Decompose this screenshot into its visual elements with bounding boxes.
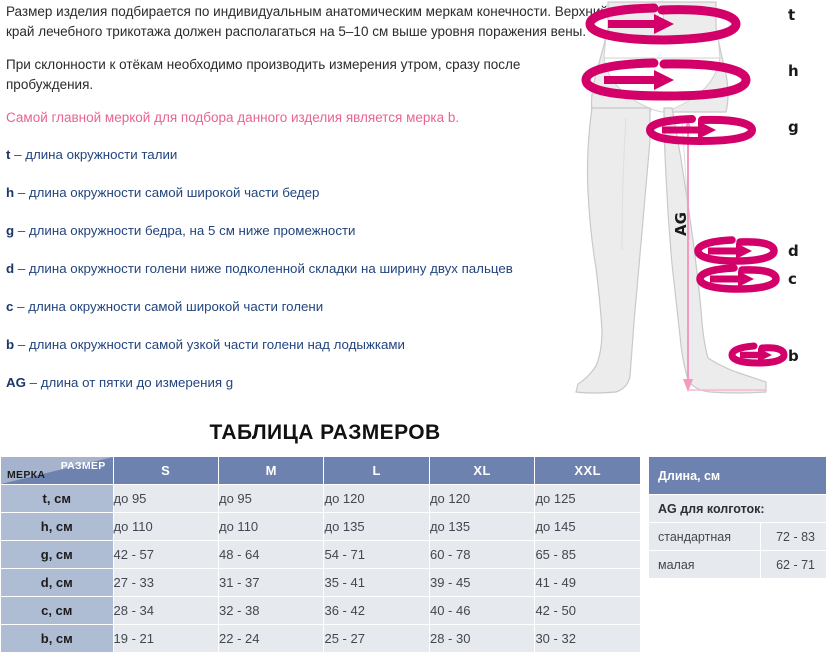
column-header-xxl: XXL [535, 457, 641, 485]
length-name-small: малая [649, 551, 761, 579]
table-row: b, см 19 - 21 22 - 24 25 - 27 28 - 30 30… [1, 625, 641, 653]
legend-key-b: b [6, 337, 14, 352]
row-label-d: d, см [1, 569, 114, 597]
length-value-standard: 72 - 83 [761, 523, 826, 551]
table-row: c, см 28 - 34 32 - 38 36 - 42 40 - 46 42… [1, 597, 641, 625]
diagram-label-b: b [788, 347, 799, 365]
corner-measure-label: МЕРКА [7, 469, 45, 481]
cell-b-xxl: 30 - 32 [535, 625, 641, 653]
legend-text-d: – длина окружности голени ниже подколенн… [18, 261, 513, 276]
table-header-row: РАЗМЕР МЕРКА S M L XL XXL [1, 457, 641, 485]
length-header-row: Длина, см [649, 457, 826, 495]
cell-b-l: 25 - 27 [324, 625, 429, 653]
diagram-label-d: d [788, 242, 799, 260]
cell-h-m: до 110 [219, 513, 324, 541]
length-value-small: 62 - 71 [761, 551, 826, 579]
cell-g-xl: 60 - 78 [429, 541, 534, 569]
intro-paragraph-1: Размер изделия подбирается по индивидуал… [6, 2, 610, 41]
corner-size-label: РАЗМЕР [61, 460, 106, 472]
cell-d-xxl: 41 - 49 [535, 569, 641, 597]
length-row: стандартная 72 - 83 [649, 523, 826, 551]
arrow-ring-c [700, 268, 776, 289]
cell-b-s: 19 - 21 [113, 625, 218, 653]
arrow-ring-g [650, 119, 752, 141]
cell-t-xl: до 120 [429, 485, 534, 513]
diagram-label-t: t [788, 6, 795, 24]
body-figure-svg [530, 0, 826, 410]
cell-d-xl: 39 - 45 [429, 569, 534, 597]
column-header-xl: XL [429, 457, 534, 485]
page-title: ТАБЛИЦА РАЗМЕРОВ [0, 421, 650, 445]
legend-item-b: b – длина окружности самой узкой части г… [6, 336, 610, 354]
length-table-header: Длина, см [649, 457, 826, 495]
row-label-t: t, см [1, 485, 114, 513]
table-row: t, см до 95 до 95 до 120 до 120 до 125 [1, 485, 641, 513]
cell-g-m: 48 - 64 [219, 541, 324, 569]
cell-c-s: 28 - 34 [113, 597, 218, 625]
row-label-h: h, см [1, 513, 114, 541]
cell-h-xl: до 135 [429, 513, 534, 541]
cell-h-xxl: до 145 [535, 513, 641, 541]
cell-b-xl: 28 - 30 [429, 625, 534, 653]
legend-text-t: – длина окружности талии [14, 147, 177, 162]
legend-text-c: – длина окружности самой широкой части г… [17, 299, 323, 314]
legend-item-h: h – длина окружности самой широкой части… [6, 184, 610, 202]
length-subtitle-row: AG для колготок: [649, 495, 826, 523]
arrow-ring-b [732, 346, 784, 363]
legend-key-g: g [6, 223, 14, 238]
table-row: h, см до 110 до 110 до 135 до 135 до 145 [1, 513, 641, 541]
length-table: Длина, см AG для колготок: стандартная 7… [648, 456, 826, 579]
diagram-label-ag: AG [672, 212, 690, 236]
cell-t-m: до 95 [219, 485, 324, 513]
intro-paragraph-2: При склонности к отёкам необходимо произ… [6, 55, 610, 94]
legend-key-d: d [6, 261, 14, 276]
row-label-c: c, см [1, 597, 114, 625]
measurement-diagram: t h g d c b AG [530, 0, 826, 410]
legend-key-ag: AG [6, 375, 26, 390]
cell-g-s: 42 - 57 [113, 541, 218, 569]
legend-text-h: – длина окружности самой широкой части б… [18, 185, 320, 200]
legend-text-ag: – длина от пятки до измерения g [30, 375, 234, 390]
legend-item-ag: AG – длина от пятки до измерения g [6, 374, 610, 392]
legend-item-t: t – длина окружности талии [6, 146, 610, 164]
legend-item-g: g – длина окружности бедра, на 5 см ниже… [6, 222, 610, 240]
legend-key-h: h [6, 185, 14, 200]
cell-g-l: 54 - 71 [324, 541, 429, 569]
length-subtitle: AG для колготок: [649, 495, 826, 523]
diagram-label-c: c [788, 270, 797, 288]
legend-key-c: c [6, 299, 13, 314]
legend-item-d: d – длина окружности голени ниже подколе… [6, 260, 610, 278]
row-label-b: b, см [1, 625, 114, 653]
cell-t-s: до 95 [113, 485, 218, 513]
cell-c-xl: 40 - 46 [429, 597, 534, 625]
legend-text-b: – длина окружности самой узкой части гол… [18, 337, 405, 352]
diagram-label-g: g [788, 118, 799, 136]
table-row: d, см 27 - 33 31 - 37 35 - 41 39 - 45 41… [1, 569, 641, 597]
row-label-g: g, см [1, 541, 114, 569]
column-header-s: S [113, 457, 218, 485]
table-corner-header: РАЗМЕР МЕРКА [1, 457, 114, 485]
top-section: Размер изделия подбирается по индивидуал… [0, 0, 826, 410]
cell-t-xxl: до 125 [535, 485, 641, 513]
arrow-ring-d [698, 240, 774, 261]
cell-d-s: 27 - 33 [113, 569, 218, 597]
legend-item-c: c – длина окружности самой широкой части… [6, 298, 610, 316]
cell-t-l: до 120 [324, 485, 429, 513]
diagram-label-h: h [788, 62, 799, 80]
cell-b-m: 22 - 24 [219, 625, 324, 653]
cell-d-l: 35 - 41 [324, 569, 429, 597]
cell-c-l: 36 - 42 [324, 597, 429, 625]
length-name-standard: стандартная [649, 523, 761, 551]
size-table: РАЗМЕР МЕРКА S M L XL XXL t, см до 95 до… [0, 456, 641, 653]
highlight-note: Самой главной меркой для подбора данного… [6, 108, 610, 128]
cell-h-s: до 110 [113, 513, 218, 541]
cell-h-l: до 135 [324, 513, 429, 541]
column-header-m: M [219, 457, 324, 485]
cell-g-xxl: 65 - 85 [535, 541, 641, 569]
column-header-l: L [324, 457, 429, 485]
cell-c-xxl: 42 - 50 [535, 597, 641, 625]
legend-key-t: t [6, 147, 10, 162]
legend-text-g: – длина окружности бедра, на 5 см ниже п… [18, 223, 356, 238]
text-column: Размер изделия подбирается по индивидуал… [6, 2, 610, 412]
cell-d-m: 31 - 37 [219, 569, 324, 597]
table-row: g, см 42 - 57 48 - 64 54 - 71 60 - 78 65… [1, 541, 641, 569]
length-row: малая 62 - 71 [649, 551, 826, 579]
cell-c-m: 32 - 38 [219, 597, 324, 625]
